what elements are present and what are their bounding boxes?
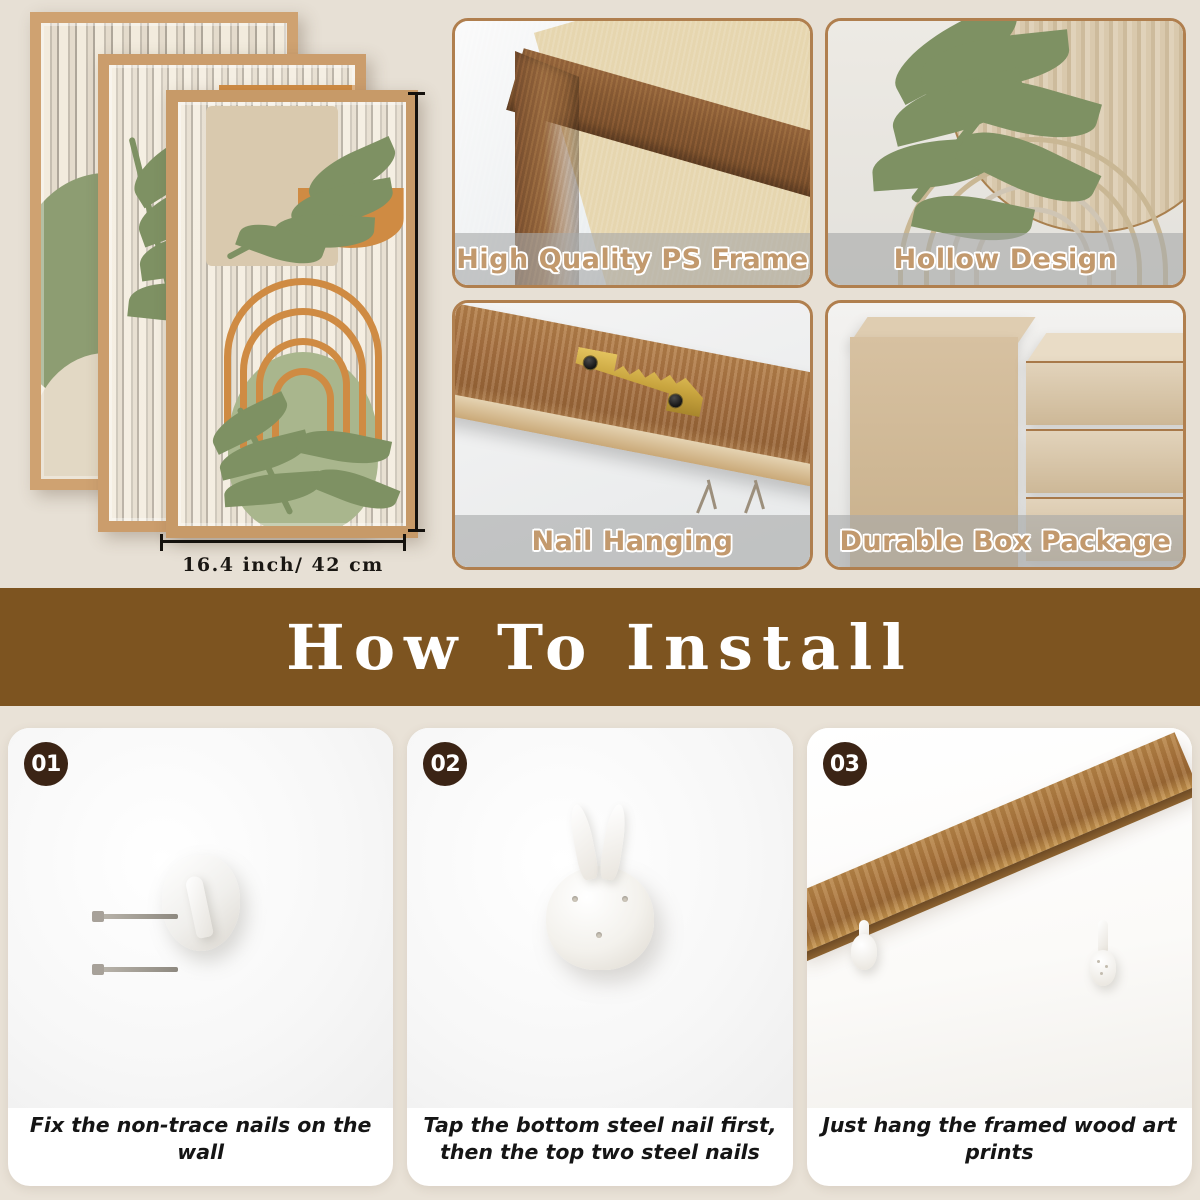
- width-dimension-callout: 16.4 inch/ 42 cm: [160, 534, 406, 582]
- box-stack-top: [1026, 333, 1183, 363]
- box-stack-layer: [1026, 429, 1183, 493]
- hanging-plank-photo: 03: [807, 728, 1192, 1108]
- nail-head: [92, 911, 104, 922]
- dimension-cap: [403, 534, 406, 551]
- how-to-install-banner: How To Install: [0, 588, 1200, 706]
- feature-label-text: Nail Hanging: [532, 526, 734, 557]
- install-step-card-01: 01 Fix the non-trace nails on the wall: [8, 728, 393, 1186]
- feature-label-text: Hollow Design: [894, 244, 1118, 275]
- non-trace-hook: [162, 855, 240, 951]
- wall-hook-with-nails-photo: 01: [8, 728, 393, 1108]
- feature-label-hollow-design: Hollow Design: [828, 233, 1183, 285]
- hook-peg: [1098, 920, 1108, 954]
- product-infographic: 32.5 inch/ 82.8 cm 16.4 inch/ 42 cm: [0, 0, 1200, 1200]
- feature-label-box-package: Durable Box Package: [828, 515, 1183, 567]
- feature-label-text: High Quality PS Frame: [456, 244, 808, 275]
- wall-hook: [1090, 920, 1116, 986]
- art-frame-front: [166, 90, 418, 538]
- framed-art-stack: [0, 0, 448, 588]
- nail-hole: [1100, 972, 1103, 975]
- bunny-hook-photo: 02: [407, 728, 792, 1108]
- hero-product-image: 32.5 inch/ 82.8 cm 16.4 inch/ 42 cm: [0, 0, 448, 588]
- step-number-badge: 02: [423, 742, 467, 786]
- install-step-card-02: 02 Tap the bottom steel nail first, then…: [407, 728, 792, 1186]
- feature-grid: High Quality PS Frame: [452, 18, 1186, 570]
- hook-base: [851, 934, 877, 970]
- feature-card-hollow-design: Hollow Design: [825, 18, 1186, 288]
- nail-hole: [1105, 965, 1108, 968]
- wall-hook: [851, 920, 873, 970]
- steel-nail: [707, 480, 717, 510]
- hook-base: [1090, 950, 1116, 986]
- step-number-badge: 01: [24, 742, 68, 786]
- banner-title: How To Install: [286, 611, 914, 684]
- dimension-cap: [408, 529, 425, 532]
- product-overview-section: 32.5 inch/ 82.8 cm 16.4 inch/ 42 cm: [0, 0, 1200, 588]
- steel-nails: [692, 473, 784, 519]
- step-number-badge: 03: [823, 742, 867, 786]
- feature-card-nail-hanging: Nail Hanging: [452, 300, 813, 570]
- feature-card-box-package: Durable Box Package: [825, 300, 1186, 570]
- feature-label-ps-frame: High Quality PS Frame: [455, 233, 810, 285]
- width-dimension-label: 16.4 inch/ 42 cm: [160, 554, 406, 576]
- hook-peg: [184, 875, 214, 939]
- height-dimension-callout: 32.5 inch/ 82.8 cm: [408, 92, 448, 532]
- feature-card-ps-frame: High Quality PS Frame: [452, 18, 813, 288]
- box-stack-layer: [1026, 361, 1183, 425]
- bunny-hook: [546, 866, 654, 970]
- nail-head: [92, 964, 104, 975]
- nail-hole: [1097, 960, 1100, 963]
- install-steps-section: 01 Fix the non-trace nails on the wall 0…: [0, 706, 1200, 1200]
- art-canvas-front: [178, 102, 406, 526]
- nail-hole: [622, 896, 628, 902]
- step-caption-03: Just hang the framed wood art prints: [807, 1108, 1192, 1186]
- steel-nail: [100, 914, 178, 919]
- feature-label-text: Durable Box Package: [839, 526, 1171, 557]
- nail-hole: [572, 896, 578, 902]
- install-step-card-03: 03 Just hang the: [807, 728, 1192, 1186]
- dimension-line: [415, 92, 418, 532]
- steel-nail: [100, 967, 178, 972]
- nail-hole: [596, 932, 602, 938]
- step-caption-02: Tap the bottom steel nail first, then th…: [407, 1108, 792, 1186]
- dimension-line: [160, 540, 406, 543]
- steel-nail: [754, 480, 765, 510]
- step-caption-01: Fix the non-trace nails on the wall: [8, 1108, 393, 1186]
- feature-label-nail-hanging: Nail Hanging: [455, 515, 810, 567]
